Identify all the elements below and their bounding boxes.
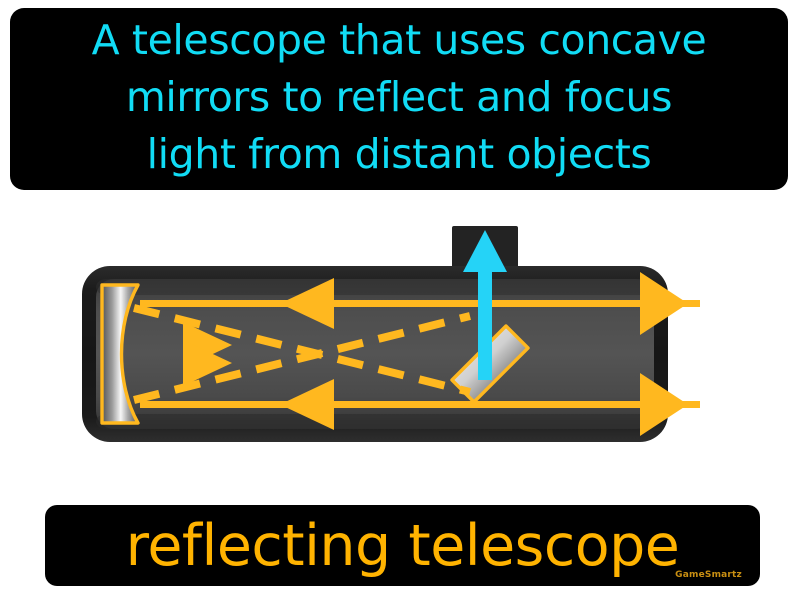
telescope-tube <box>82 266 668 442</box>
watermark: GameSmartz <box>675 570 742 580</box>
definition-card: A telescope that uses concave mirrors to… <box>0 0 800 600</box>
telescope-svg <box>0 196 800 492</box>
definition-text: A telescope that uses concave mirrors to… <box>20 12 778 183</box>
definition-panel: A telescope that uses concave mirrors to… <box>10 8 788 190</box>
term-text: reflecting telescope <box>126 516 680 576</box>
term-panel: reflecting telescope GameSmartz <box>45 505 760 586</box>
telescope-diagram <box>0 196 800 492</box>
